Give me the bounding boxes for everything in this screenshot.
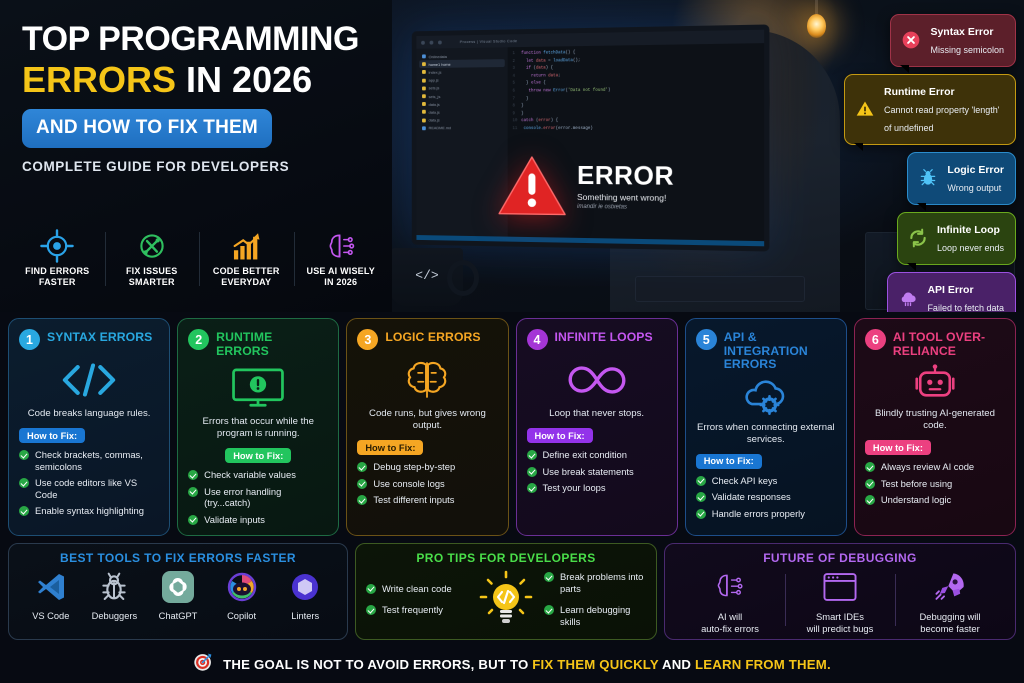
footer-text: THE GOAL IS NOT TO AVOID ERRORS, BUT TO … bbox=[223, 657, 831, 672]
check-icon bbox=[865, 479, 875, 489]
benefit-item: CODE BETTEREVERYDAY bbox=[199, 226, 294, 288]
cloud-icon bbox=[897, 287, 919, 309]
card-description: Code runs, but gives wrong output. bbox=[357, 408, 497, 432]
check-icon bbox=[357, 462, 367, 472]
tips-right-column: Break problems into parts Learn debuggin… bbox=[544, 571, 646, 627]
fix-item: Validate responses bbox=[696, 491, 836, 503]
fix-item: Test different inputs bbox=[357, 494, 497, 506]
editor-file-explorer: Onlinedata home1 home index.js app.js se… bbox=[416, 47, 507, 236]
check-icon bbox=[19, 450, 29, 460]
card-number: 5 bbox=[696, 329, 717, 350]
bug-icon bbox=[98, 590, 130, 607]
fix-item: Define exit condition bbox=[527, 449, 667, 461]
card-description: Blindly trusting AI-generated code. bbox=[865, 408, 1005, 432]
fix-item: Always review AI code bbox=[865, 461, 1005, 473]
tool-label: Linters bbox=[275, 611, 335, 621]
editor-window-title: Process | Visual Studio Code bbox=[460, 38, 518, 44]
tool-item: Debuggers bbox=[84, 571, 144, 621]
error-card-6: 6 AI TOOL OVER-RELIANCE Blindly trusting… bbox=[854, 318, 1016, 536]
coffee-mug: </> bbox=[391, 248, 463, 306]
title-year: IN 2026 bbox=[186, 59, 312, 100]
fix-item: Check brackets, commas, semicolons bbox=[19, 449, 159, 472]
tool-item: Linters bbox=[275, 571, 335, 621]
check-icon bbox=[357, 495, 367, 505]
warning-triangle-icon bbox=[854, 98, 876, 120]
check-icon bbox=[188, 487, 198, 497]
error-badge: Infinite LoopLoop never ends bbox=[897, 212, 1016, 265]
infographic-page: Process | Visual Studio Code Onlinedata … bbox=[0, 0, 1024, 683]
fix-item: Check API keys bbox=[696, 475, 836, 487]
card-title: RUNTIME ERRORS bbox=[216, 329, 328, 358]
monitor-alert-icon bbox=[188, 362, 328, 414]
hero-section: Process | Visual Studio Code Onlinedata … bbox=[0, 0, 1024, 312]
fix-item: Use code editors like VS Code bbox=[19, 477, 159, 500]
error-message: Something went wrong! bbox=[577, 192, 674, 203]
future-panel-title: FUTURE OF DEBUGGING bbox=[675, 551, 1005, 565]
fix-label: How to Fix: bbox=[865, 440, 931, 455]
fix-item: Check variable values bbox=[188, 469, 328, 481]
fix-list: Check brackets, commas, semicolons Use c… bbox=[19, 449, 159, 517]
check-icon bbox=[366, 584, 376, 594]
ai-brain-icon bbox=[294, 226, 389, 266]
tool-label: ChatGPT bbox=[148, 611, 208, 621]
vscode-logo-icon bbox=[35, 590, 67, 607]
ai-brain-icon bbox=[711, 591, 749, 608]
tips-panel-title: PRO TIPS FOR DEVELOPERS bbox=[366, 551, 646, 565]
linter-hexagon-icon bbox=[289, 590, 321, 607]
check-icon bbox=[19, 506, 29, 516]
fix-item: Debug step-by-step bbox=[357, 461, 497, 473]
card-title: INFINITE LOOPS bbox=[555, 329, 653, 345]
fix-label: How to Fix: bbox=[696, 454, 762, 469]
file-item: data.js bbox=[419, 116, 505, 124]
future-item: Smart IDEswill predict bugs bbox=[785, 570, 895, 634]
badge-desc: Missing semicolon bbox=[930, 45, 1004, 55]
fix-item: Understand logic bbox=[865, 494, 1005, 506]
tool-item: ChatGPT bbox=[148, 571, 208, 621]
error-card-3: 3 LOGIC ERRORS Code runs, but gives wron… bbox=[346, 318, 508, 536]
fix-label: How to Fix: bbox=[527, 428, 593, 443]
openai-logo-icon bbox=[162, 590, 194, 607]
card-title: AI TOOL OVER-RELIANCE bbox=[893, 329, 1005, 358]
card-number: 6 bbox=[865, 329, 886, 350]
fix-item: Use break statements bbox=[527, 466, 667, 478]
x-circle-icon bbox=[900, 29, 922, 51]
check-icon bbox=[527, 450, 537, 460]
check-icon bbox=[696, 492, 706, 502]
dart-target-icon bbox=[193, 651, 214, 677]
benefit-item: FIND ERRORSFASTER bbox=[10, 226, 105, 288]
fix-label: How to Fix: bbox=[357, 440, 423, 455]
check-icon bbox=[527, 467, 537, 477]
bottom-panels: BEST TOOLS TO FIX ERRORS FASTER VS Code … bbox=[8, 543, 1016, 640]
bug-icon bbox=[917, 167, 939, 189]
file-item: README.md bbox=[419, 124, 505, 132]
tip-item: Break problems into parts bbox=[544, 571, 646, 594]
warning-triangle-icon bbox=[497, 155, 567, 217]
title-errors-word: ERRORS bbox=[22, 59, 176, 100]
benefit-item: USE AI WISELYIN 2026 bbox=[294, 226, 389, 288]
card-title: API & INTEGRATION ERRORS bbox=[724, 329, 836, 372]
future-panel: FUTURE OF DEBUGGING AI willauto-fix erro… bbox=[664, 543, 1016, 640]
future-item: AI willauto-fix errors bbox=[675, 570, 785, 634]
error-cards-grid: 1 SYNTAX ERRORS Code breaks language rul… bbox=[8, 318, 1016, 536]
fix-item: Test your loops bbox=[527, 482, 667, 494]
check-icon bbox=[19, 478, 29, 488]
target-icon bbox=[10, 226, 105, 266]
fix-list: Define exit condition Use break statemen… bbox=[527, 449, 667, 494]
footer-highlight-2: LEARN FROM THEM. bbox=[695, 657, 831, 672]
fix-list: Check variable values Use error handling… bbox=[188, 469, 328, 525]
check-icon bbox=[366, 605, 376, 615]
card-title: SYNTAX ERRORS bbox=[47, 329, 152, 345]
fix-list: Debug step-by-step Use console logs Test… bbox=[357, 461, 497, 506]
check-icon bbox=[544, 605, 554, 615]
infinity-icon bbox=[527, 354, 667, 406]
benefits-row: FIND ERRORSFASTER FIX ISSUESSMARTER CODE… bbox=[10, 226, 388, 288]
ide-window-icon bbox=[821, 591, 859, 608]
error-overlay: ERROR Something went wrong! imandir ie o… bbox=[497, 141, 748, 234]
tools-panel-title: BEST TOOLS TO FIX ERRORS FASTER bbox=[19, 551, 337, 565]
fix-item: Validate inputs bbox=[188, 514, 328, 526]
tips-panel: PRO TIPS FOR DEVELOPERS Write clean code… bbox=[355, 543, 657, 640]
benefit-item: FIX ISSUESSMARTER bbox=[105, 226, 200, 288]
card-title: LOGIC ERRORS bbox=[385, 329, 480, 345]
error-badge: Logic ErrorWrong output bbox=[907, 152, 1016, 205]
mug-code-glyph: </> bbox=[391, 268, 463, 283]
lightbulb-code-icon bbox=[474, 570, 538, 628]
rocket-icon bbox=[931, 591, 969, 608]
error-subtext: imandir ie ostxetas bbox=[577, 204, 674, 211]
check-icon bbox=[544, 572, 554, 582]
error-badges-list: Syntax ErrorMissing semicolon Runtime Er… bbox=[826, 14, 1016, 312]
cloud-gear-icon bbox=[696, 376, 836, 420]
tip-item: Learn debugging skills bbox=[544, 604, 646, 627]
fix-list: Check API keys Validate responses Handle… bbox=[696, 475, 836, 520]
fix-item: Test before using bbox=[865, 478, 1005, 490]
error-card-4: 4 INFINITE LOOPS Loop that never stops. … bbox=[516, 318, 678, 536]
brain-icon bbox=[357, 354, 497, 406]
code-editor-monitor: Process | Visual Studio Code Onlinedata … bbox=[412, 24, 770, 251]
check-icon bbox=[696, 476, 706, 486]
robot-icon bbox=[865, 362, 1005, 406]
tip-item: Write clean code bbox=[366, 583, 468, 595]
benefit-label: FIND ERRORS bbox=[25, 266, 89, 276]
tools-panel: BEST TOOLS TO FIX ERRORS FASTER VS Code … bbox=[8, 543, 348, 640]
fix-item: Handle errors properly bbox=[696, 508, 836, 520]
error-card-2: 2 RUNTIME ERRORS Errors that occur while… bbox=[177, 318, 339, 536]
tips-left-column: Write clean code Test frequently bbox=[366, 583, 468, 616]
footer-highlight-1: FIX THEM QUICKLY bbox=[532, 657, 658, 672]
check-icon bbox=[188, 515, 198, 525]
page-title-line1: TOP PROGRAMMING bbox=[22, 22, 374, 56]
tool-item: Copilot bbox=[212, 571, 272, 621]
error-title: ERROR bbox=[577, 162, 674, 189]
fix-item: Enable syntax highlighting bbox=[19, 505, 159, 517]
check-icon bbox=[357, 479, 367, 489]
tool-label: Debuggers bbox=[84, 611, 144, 621]
card-description: Errors when connecting external services… bbox=[696, 422, 836, 446]
fix-label: How to Fix: bbox=[19, 428, 85, 443]
subtitle-pill: AND HOW TO FIX THEM bbox=[22, 109, 272, 148]
card-description: Code breaks language rules. bbox=[19, 408, 159, 420]
future-label: AI will bbox=[718, 611, 742, 622]
card-description: Loop that never stops. bbox=[527, 408, 667, 420]
fix-label: How to Fix: bbox=[225, 448, 291, 463]
check-icon bbox=[527, 483, 537, 493]
error-badge: API ErrorFailed to fetch data bbox=[887, 272, 1016, 312]
growth-chart-icon bbox=[199, 226, 294, 266]
tagline: COMPLETE GUIDE FOR DEVELOPERS bbox=[22, 159, 374, 174]
tool-label: VS Code bbox=[21, 611, 81, 621]
check-icon bbox=[865, 462, 875, 472]
tip-item: Test frequently bbox=[366, 604, 468, 616]
refresh-loop-icon bbox=[907, 227, 929, 249]
code-brackets-icon bbox=[19, 354, 159, 406]
error-badge: Runtime ErrorCannot read property 'lengt… bbox=[844, 74, 1016, 145]
page-title-line2: ERRORS IN 2026 bbox=[22, 62, 374, 98]
card-description: Errors that occur while the program is r… bbox=[188, 416, 328, 440]
card-number: 4 bbox=[527, 329, 548, 350]
card-number: 1 bbox=[19, 329, 40, 350]
keyboard bbox=[635, 276, 805, 302]
check-icon bbox=[188, 470, 198, 480]
error-card-5: 5 API & INTEGRATION ERRORS Errors when c… bbox=[685, 318, 847, 536]
card-number: 3 bbox=[357, 329, 378, 350]
tool-item: VS Code bbox=[21, 571, 81, 621]
fix-list: Always review AI code Test before using … bbox=[865, 461, 1005, 506]
footer-banner: THE GOAL IS NOT TO AVOID ERRORS, BUT TO … bbox=[0, 645, 1024, 683]
card-number: 2 bbox=[188, 329, 209, 350]
fix-item: Use console logs bbox=[357, 478, 497, 490]
file-item: data.js bbox=[419, 108, 505, 116]
tools-icon bbox=[105, 226, 200, 266]
check-icon bbox=[696, 509, 706, 519]
error-card-1: 1 SYNTAX ERRORS Code breaks language rul… bbox=[8, 318, 170, 536]
check-icon bbox=[865, 495, 875, 505]
copilot-logo-icon bbox=[226, 590, 258, 607]
future-item: Debugging willbecome faster bbox=[895, 570, 1005, 634]
tool-label: Copilot bbox=[212, 611, 272, 621]
badge-title: Syntax Error bbox=[930, 26, 993, 38]
hanging-bulb-icon bbox=[815, 0, 818, 18]
fix-item: Use error handling (try...catch) bbox=[188, 486, 328, 509]
error-badge: Syntax ErrorMissing semicolon bbox=[890, 14, 1016, 67]
